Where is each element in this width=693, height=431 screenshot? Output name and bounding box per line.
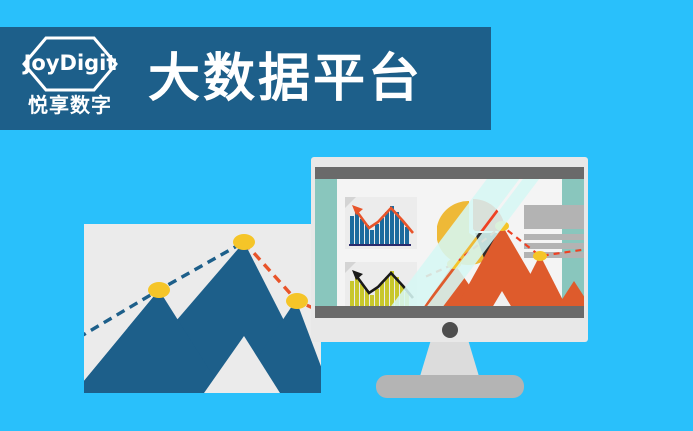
axis-line: [349, 244, 411, 246]
monitor-stand-neck: [420, 342, 480, 378]
monitor-bottom-bar: [315, 306, 584, 318]
header-banner: JoyDigit 悦享数字 大数据平台: [0, 27, 491, 130]
monitor-top-bar: [315, 167, 584, 179]
power-button-icon[interactable]: [442, 322, 458, 338]
trend-marker: [233, 234, 255, 250]
monitor-stand-base: [376, 375, 524, 398]
poster-canvas: JoyDigit 悦享数字 大数据平台: [0, 0, 693, 431]
screen-side-panel-left: [315, 179, 337, 318]
dashboard-content: [337, 179, 562, 318]
bar-chart-blue[interactable]: [345, 197, 417, 249]
trend-marker: [286, 293, 308, 309]
hexagon-icon: JoyDigit: [20, 36, 120, 92]
monitor-screen: [315, 179, 584, 318]
mountain-trend-svg: [84, 224, 321, 393]
logo-latin-text: JoyDigit: [24, 53, 117, 74]
desktop-monitor: [311, 157, 588, 342]
trend-marker: [533, 251, 547, 261]
logo-chinese-text: 悦享数字: [28, 96, 112, 116]
corner-fold-icon: [345, 197, 356, 208]
page-title: 大数据平台: [148, 53, 423, 105]
trend-marker: [148, 282, 170, 298]
mountain-trend-panel: [84, 224, 321, 393]
monitor-body: [311, 157, 588, 342]
brand-logo: JoyDigit 悦享数字: [14, 36, 126, 122]
corner-fold-icon: [345, 262, 356, 273]
